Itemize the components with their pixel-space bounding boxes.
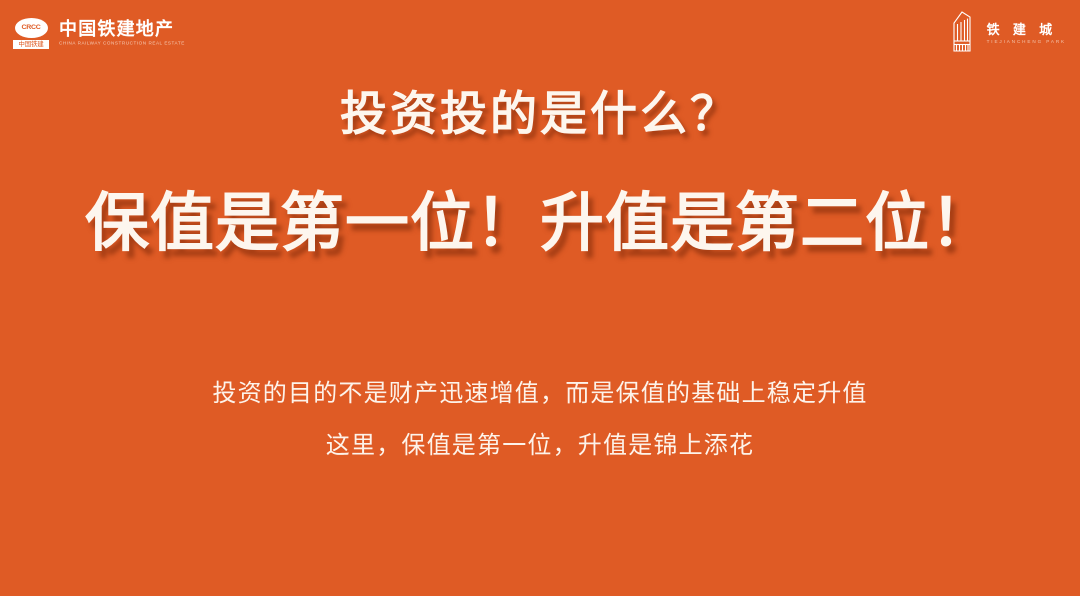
headline-statement: 保值是第一位！升值是第二位！ bbox=[0, 184, 1080, 264]
tower-icon bbox=[947, 11, 977, 53]
project-logo-text: 铁 建 城 TIEJIANCHENG PARK bbox=[987, 19, 1066, 46]
project-logo: 铁 建 城 TIEJIANCHENG PARK bbox=[947, 10, 1066, 54]
body-line-2: 这里，保值是第一位，升值是锦上添花 bbox=[0, 420, 1080, 472]
body-copy: 投资的目的不是财产迅速增值，而是保值的基础上稳定升值 这里，保值是第一位，升值是… bbox=[0, 368, 1080, 472]
crcc-seal-icon: CRCC bbox=[15, 18, 48, 38]
project-name-en: TIEJIANCHENG PARK bbox=[987, 38, 1066, 46]
headline-question: 投资投的是什么？ bbox=[0, 86, 1080, 144]
project-name-cn: 铁 建 城 bbox=[987, 22, 1066, 38]
crcc-emblem-icon: CRCC 中国铁建 bbox=[12, 14, 50, 52]
slide-canvas: CRCC 中国铁建 中国铁建地产 CHINA RAILWAY CONSTRUCT… bbox=[0, 0, 1080, 596]
crcc-seal-mark: CRCC bbox=[21, 25, 40, 31]
body-line-1: 投资的目的不是财产迅速增值，而是保值的基础上稳定升值 bbox=[0, 368, 1080, 420]
corporate-name-en: CHINA RAILWAY CONSTRUCTION REAL ESTATE bbox=[59, 39, 185, 47]
crcc-seal-label: 中国铁建 bbox=[13, 40, 49, 49]
headline-group: 投资投的是什么？ 保值是第一位！升值是第二位！ bbox=[0, 86, 1080, 264]
corporate-logo-text: 中国铁建地产 CHINA RAILWAY CONSTRUCTION REAL E… bbox=[59, 19, 185, 47]
corporate-logo: CRCC 中国铁建 中国铁建地产 CHINA RAILWAY CONSTRUCT… bbox=[12, 14, 185, 52]
corporate-name-cn: 中国铁建地产 bbox=[59, 19, 185, 39]
